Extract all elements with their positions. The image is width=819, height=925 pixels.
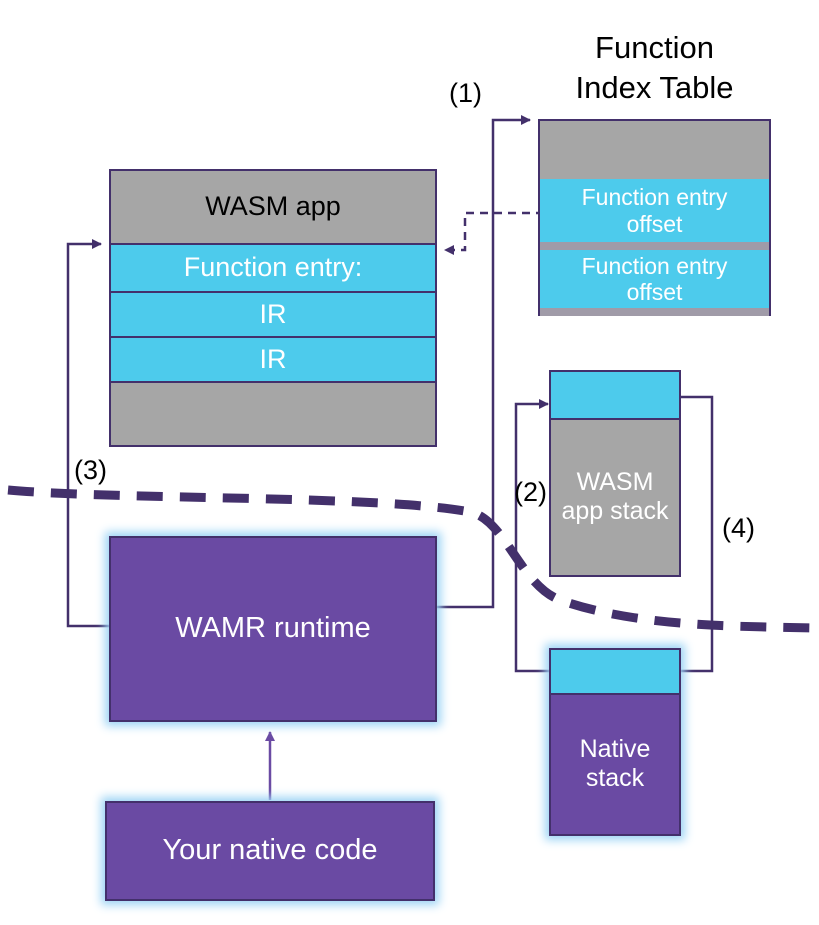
step-label-3: (3) xyxy=(74,455,107,486)
function-index-table-separator-0 xyxy=(540,242,769,250)
native-stack-body: Native stack xyxy=(551,695,679,833)
function-index-table-entry-0-line2: offset xyxy=(627,211,683,237)
wasm-app-stack-body: WASM app stack xyxy=(551,420,679,574)
native-code-box: Your native code xyxy=(105,801,435,901)
function-index-table-title: Function Index Table xyxy=(538,28,771,109)
function-index-table: Function entry offset Function entry off… xyxy=(538,119,771,316)
function-index-table-title-line1: Function xyxy=(538,28,771,68)
step-label-1: (1) xyxy=(449,78,482,109)
connector-step-3 xyxy=(68,244,110,626)
wasm-app-row-0: Function entry: xyxy=(111,243,435,293)
wamr-runtime-box: WAMR runtime xyxy=(109,536,437,722)
function-index-table-entry-1: Function entry offset xyxy=(540,250,769,308)
function-index-table-entry-1-line1: Function entry xyxy=(582,253,728,279)
wasm-app-row-1: IR xyxy=(111,293,435,338)
function-index-table-header-area xyxy=(540,121,769,179)
native-stack-label-line1: Native xyxy=(580,735,651,764)
function-index-table-separator-1 xyxy=(540,308,769,316)
wasm-app-stack-label-line2: app stack xyxy=(561,497,668,526)
native-stack-label-line2: stack xyxy=(586,764,644,793)
wasm-app-stack-header xyxy=(551,372,679,420)
wasm-app-row-1-label: IR xyxy=(260,299,287,330)
function-index-table-entry-1-line2: offset xyxy=(627,279,683,305)
native-code-label: Your native code xyxy=(163,834,378,867)
wasm-app-row-0-label: Function entry: xyxy=(184,252,363,283)
diagram-canvas: Function Index Table (1) (2) (3) (4) Fun… xyxy=(0,0,819,925)
wasm-app-stack-box: WASM app stack xyxy=(549,370,681,577)
function-index-table-title-line2: Index Table xyxy=(538,68,771,108)
wasm-app-stack-label-line1: WASM xyxy=(577,468,654,497)
wasm-app-title: WASM app xyxy=(205,191,341,222)
wamr-runtime-label: WAMR runtime xyxy=(175,612,371,645)
wasm-app-footer-row xyxy=(111,383,435,441)
function-index-table-entry-0-line1: Function entry xyxy=(582,184,728,210)
native-stack-header xyxy=(551,650,679,695)
step-label-4: (4) xyxy=(722,513,755,544)
wasm-app-row-2: IR xyxy=(111,338,435,383)
native-stack-box: Native stack xyxy=(549,648,681,836)
function-index-table-entry-0: Function entry offset xyxy=(540,179,769,242)
wasm-app-row-2-label: IR xyxy=(260,344,287,375)
step-label-2: (2) xyxy=(514,477,547,508)
wasm-app-box: WASM app Function entry: IR IR xyxy=(109,169,437,447)
wasm-app-title-row: WASM app xyxy=(111,171,435,243)
